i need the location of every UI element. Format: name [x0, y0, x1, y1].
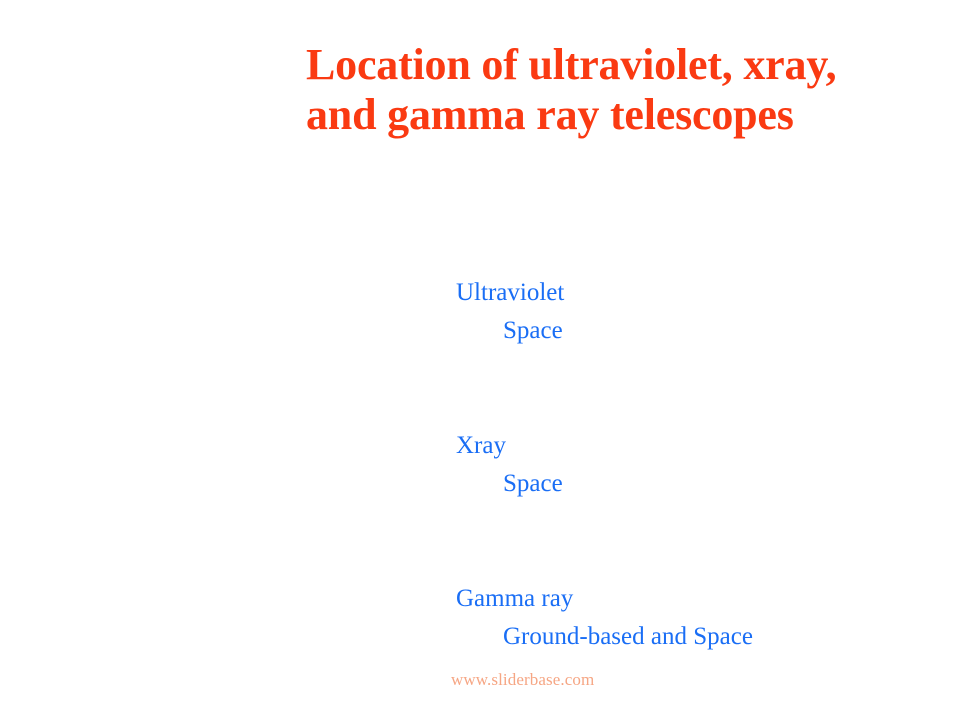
content-detail-gamma-ray: Ground-based and Space: [0, 618, 960, 656]
content-group-ultraviolet: Ultraviolet Space: [0, 274, 960, 350]
content-heading-ultraviolet: Ultraviolet: [0, 274, 960, 312]
content-detail-ultraviolet: Space: [0, 312, 960, 350]
slide-canvas: Location of ultraviolet, xray, and gamma…: [0, 0, 960, 720]
footer-watermark: www.sliderbase.com: [451, 670, 594, 690]
content-heading-xray: Xray: [0, 427, 960, 465]
content-heading-gamma-ray: Gamma ray: [0, 580, 960, 618]
content-detail-xray: Space: [0, 465, 960, 503]
content-group-gamma-ray: Gamma ray Ground-based and Space: [0, 580, 960, 656]
content-group-xray: Xray Space: [0, 427, 960, 503]
slide-title: Location of ultraviolet, xray, and gamma…: [306, 40, 906, 140]
slide-body: Ultraviolet Space Xray Space Gamma ray G…: [0, 274, 960, 656]
